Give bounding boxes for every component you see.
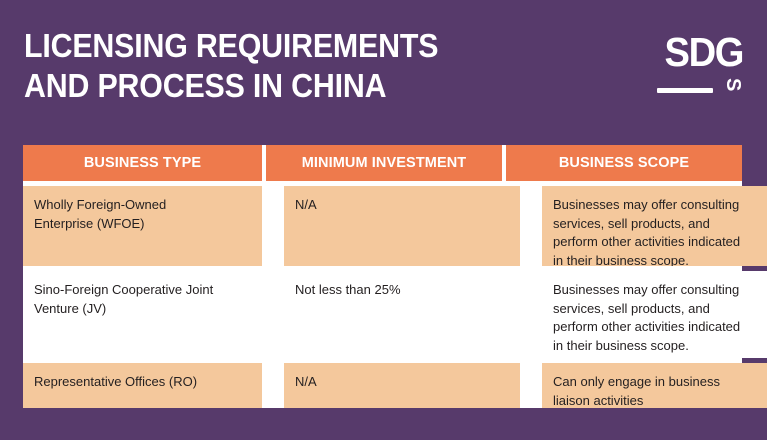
cell-business-scope: Businesses may offer consulting services… [542, 271, 767, 358]
licensing-requirements-table: BUSINESS TYPE MINIMUM INVESTMENT BUSINES… [23, 145, 742, 398]
table-row: Wholly Foreign-Owned Enterprise (WFOE) N… [23, 186, 742, 266]
logo-mark-glyph: S [723, 78, 743, 98]
cell-business-scope: Can only engage in business liaison acti… [542, 363, 767, 408]
column-header-business-scope: BUSINESS SCOPE [506, 145, 742, 181]
cell-text: Businesses may offer consulting services… [553, 281, 767, 355]
cell-text: N/A [295, 373, 509, 392]
logo-rule-icon [657, 88, 713, 93]
column-divider [520, 186, 542, 266]
slide-canvas: LICENSING REQUIREMENTS AND PROCESS IN CH… [0, 0, 767, 440]
cell-business-scope: Businesses may offer consulting services… [542, 186, 767, 266]
column-header-minimum-investment: MINIMUM INVESTMENT [266, 145, 502, 181]
column-divider [520, 271, 542, 358]
cell-text: Can only engage in business liaison acti… [553, 373, 767, 408]
logo-wordmark: SDG [659, 30, 743, 74]
cell-minimum-investment: N/A [284, 186, 520, 266]
cell-business-type: Representative Offices (RO) [23, 363, 262, 408]
column-divider [262, 363, 284, 408]
table-row: Sino-Foreign Cooperative Joint Venture (… [23, 271, 742, 358]
column-divider [262, 186, 284, 266]
table-row: Representative Offices (RO) N/A Can only… [23, 363, 742, 408]
column-divider [262, 271, 284, 358]
column-header-business-type: BUSINESS TYPE [23, 145, 262, 181]
table-header-row: BUSINESS TYPE MINIMUM INVESTMENT BUSINES… [23, 145, 742, 181]
cell-text: Wholly Foreign-Owned Enterprise (WFOE) [34, 196, 251, 233]
cell-text: Representative Offices (RO) [34, 373, 251, 392]
logo-s-mark-icon: S [723, 78, 743, 98]
cell-text: Not less than 25% [295, 281, 509, 300]
slide-header: LICENSING REQUIREMENTS AND PROCESS IN CH… [0, 0, 767, 130]
page-title: LICENSING REQUIREMENTS AND PROCESS IN CH… [24, 26, 558, 106]
cell-text: Businesses may offer consulting services… [553, 196, 767, 266]
cell-business-type: Sino-Foreign Cooperative Joint Venture (… [23, 271, 262, 358]
cell-text: N/A [295, 196, 509, 215]
cell-business-type: Wholly Foreign-Owned Enterprise (WFOE) [23, 186, 262, 266]
column-divider [520, 363, 542, 408]
cell-minimum-investment: Not less than 25% [284, 271, 520, 358]
cell-minimum-investment: N/A [284, 363, 520, 408]
sdg-logo: SDG S [653, 30, 743, 102]
cell-text: Sino-Foreign Cooperative Joint Venture (… [34, 281, 251, 318]
